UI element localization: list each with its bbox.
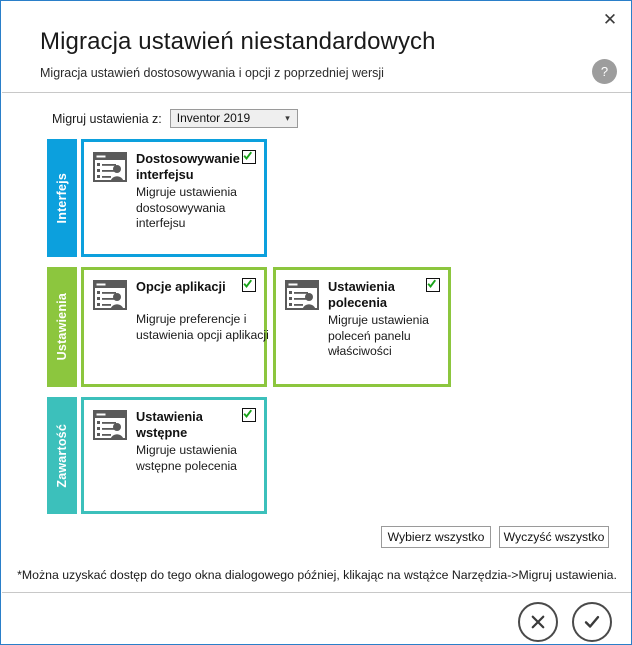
card-header: Dostosowywanie interfejsu: [93, 151, 254, 183]
card-title: Opcje aplikacji: [136, 279, 236, 295]
category-tab-label: Interfejs: [55, 173, 69, 223]
version-select-value: Inventor 2019: [177, 111, 250, 125]
card-checkbox[interactable]: [242, 278, 256, 292]
category-cards-zawartosc: Ustawienia wstępne Migruje ustawienia ws…: [81, 397, 267, 514]
dialog-action-bar: [2, 592, 631, 644]
user-panel-icon: [93, 152, 127, 182]
clear-all-button[interactable]: Wyczyść wszystko: [499, 526, 609, 548]
card-ustawienia-polecenia[interactable]: Ustawienia polecenia Migruje ustawienia …: [273, 267, 451, 387]
page-subtitle: Migracja ustawień dostosowywania i opcji…: [40, 66, 384, 80]
card-title: Ustawienia wstępne: [136, 409, 236, 441]
category-row-interfejs: Interfejs: [47, 139, 451, 257]
migrate-from-label: Migruj ustawienia z:: [52, 112, 162, 126]
category-list: Interfejs: [47, 139, 451, 524]
card-checkbox[interactable]: [426, 278, 440, 292]
card-dostosowywanie-interfejsu[interactable]: Dostosowywanie interfejsu Migruje ustawi…: [81, 139, 267, 257]
category-cards-ustawienia: Opcje aplikacji Migruje preferencje i us…: [81, 267, 451, 387]
category-tab-label: Zawartość: [55, 424, 69, 488]
category-tab-interfejs[interactable]: Interfejs: [47, 139, 77, 257]
page-title: Migracja ustawień niestandardowych: [40, 28, 436, 56]
category-tab-zawartosc[interactable]: Zawartość: [47, 397, 77, 514]
card-checkbox[interactable]: [242, 408, 256, 422]
card-description: Migruje ustawienia poleceń panelu właści…: [328, 313, 468, 360]
close-icon[interactable]: ✕: [597, 8, 623, 32]
chevron-down-icon: ▾: [285, 110, 290, 127]
card-description: Migruje ustawienia dostosowywania interf…: [136, 185, 276, 232]
category-row-ustawienia: Ustawienia: [47, 267, 451, 387]
category-tab-label: Ustawienia: [55, 293, 69, 360]
category-row-zawartosc: Zawartość: [47, 397, 451, 514]
user-panel-icon: [285, 280, 319, 310]
card-title: Dostosowywanie interfejsu: [136, 151, 244, 183]
user-panel-icon: [93, 410, 127, 440]
action-button-group: [518, 602, 612, 642]
footer-note: *Można uzyskać dostęp do tego okna dialo…: [1, 568, 632, 582]
card-opcje-aplikacji[interactable]: Opcje aplikacji Migruje preferencje i us…: [81, 267, 267, 387]
dialog-header: ✕ Migracja ustawień niestandardowych Mig…: [2, 2, 631, 93]
migration-dialog: ✕ Migracja ustawień niestandardowych Mig…: [0, 0, 632, 645]
card-header: Ustawienia wstępne: [93, 409, 254, 441]
card-header: Opcje aplikacji: [93, 279, 254, 310]
card-header: Ustawienia polecenia: [285, 279, 438, 311]
confirm-circle-icon[interactable]: [572, 602, 612, 642]
user-panel-icon: [93, 280, 127, 310]
cancel-circle-icon[interactable]: [518, 602, 558, 642]
card-title: Ustawienia polecenia: [328, 279, 418, 311]
migrate-from-row: Migruj ustawienia z: Inventor 2019 ▾: [52, 109, 298, 128]
category-cards-interfejs: Dostosowywanie interfejsu Migruje ustawi…: [81, 139, 267, 257]
card-description: Migruje preferencje i ustawienia opcji a…: [136, 312, 276, 343]
bulk-action-buttons: Wybierz wszystko Wyczyść wszystko: [381, 526, 609, 548]
category-tab-ustawienia[interactable]: Ustawienia: [47, 267, 77, 387]
version-select[interactable]: Inventor 2019 ▾: [170, 109, 298, 128]
card-ustawienia-wstepne[interactable]: Ustawienia wstępne Migruje ustawienia ws…: [81, 397, 267, 514]
help-icon[interactable]: ?: [592, 59, 617, 84]
card-description: Migruje ustawienia wstępne polecenia: [136, 443, 276, 474]
card-checkbox[interactable]: [242, 150, 256, 164]
select-all-button[interactable]: Wybierz wszystko: [381, 526, 491, 548]
